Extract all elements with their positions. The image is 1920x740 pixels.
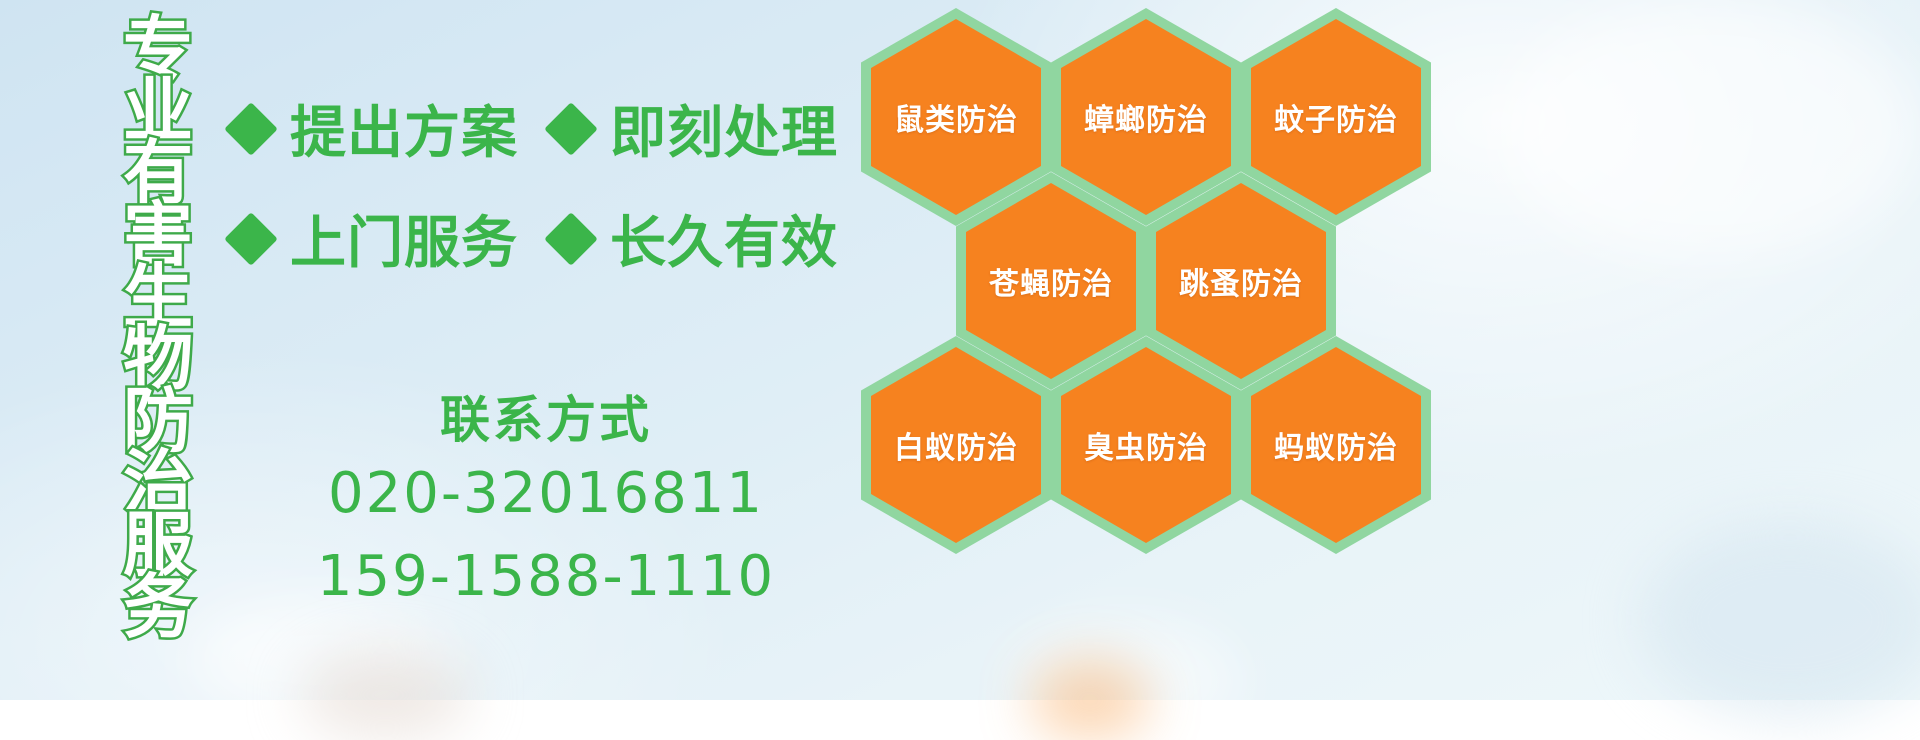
service-label: 鼠类防治 [894,95,1018,139]
background-blob [1030,660,1150,740]
service-label: 臭虫防治 [1084,423,1208,467]
service-label: 跳蚤防治 [1179,259,1303,303]
service-hex-termite[interactable]: 白蚁防治 [861,336,1051,554]
headline-char: 害 [123,204,193,266]
headline-char: 务 [123,576,193,638]
feature-label: 长久有效 [610,198,838,279]
headline-char: 物 [123,328,193,390]
banner-canvas: 专 业 有 害 生 物 防 治 服 务 提出方案 即刻处理 上门服务 长久有效 [0,0,1920,700]
headline-char: 防 [123,390,193,452]
service-label: 蚊子防治 [1274,95,1398,139]
phone-landline[interactable]: 020-32016811 [236,459,856,528]
feature-item: 上门服务 [232,198,518,279]
service-label: 蚂蚁防治 [1274,423,1398,467]
headline-char: 治 [123,452,193,514]
service-label: 蟑螂防治 [1084,95,1208,139]
feature-item: 即刻处理 [552,88,838,169]
headline-char: 生 [123,266,193,328]
background-blob [1500,0,1920,260]
feature-item: 提出方案 [232,88,518,169]
headline-char: 有 [123,142,193,204]
background-blob [1010,620,1240,740]
background-blob [1640,520,1920,720]
contact-title: 联系方式 [236,395,856,445]
feature-row-2: 上门服务 长久有效 [232,198,838,279]
feature-row-1: 提出方案 即刻处理 [232,88,838,169]
services-honeycomb: 鼠类防治 蟑螂防治 蚊子防治 苍蝇防治 跳蚤防治 白蚁防治 [855,0,1455,560]
feature-label: 提出方案 [290,88,518,169]
service-hex-ant[interactable]: 蚂蚁防治 [1241,336,1431,554]
vertical-headline: 专 业 有 害 生 物 防 治 服 务 [110,18,206,578]
diamond-bullet-icon [224,212,278,266]
diamond-bullet-icon [544,212,598,266]
headline-char: 业 [123,80,193,142]
feature-label: 即刻处理 [610,88,838,169]
feature-item: 长久有效 [552,198,838,279]
service-hex-bedbug[interactable]: 臭虫防治 [1051,336,1241,554]
phone-mobile[interactable]: 159-1588-1110 [236,542,856,611]
contact-block: 联系方式 020-32016811 159-1588-1110 [236,395,856,612]
feature-label: 上门服务 [290,198,518,279]
diamond-bullet-icon [544,102,598,156]
background-blob [300,650,470,740]
diamond-bullet-icon [224,102,278,156]
background-blob [190,600,450,720]
headline-char: 专 [123,18,193,80]
service-label: 白蚁防治 [894,423,1018,467]
service-label: 苍蝇防治 [989,259,1113,303]
headline-char: 服 [123,514,193,576]
